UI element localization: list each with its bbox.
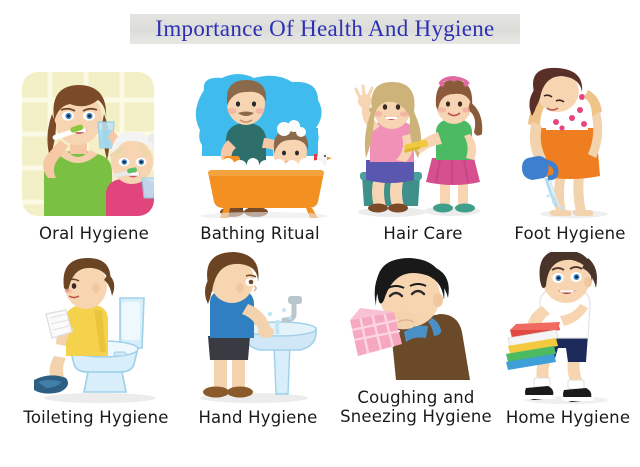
illustration-coughing-sneezing <box>336 252 496 384</box>
caption-coughing-sneezing-hygiene: Coughing and Sneezing Hygiene <box>336 388 496 426</box>
page-title: Importance Of Health And Hygiene <box>155 16 494 42</box>
caption-line-2: Sneezing Hygiene <box>336 407 496 426</box>
caption-oral-hygiene: Oral Hygiene <box>14 224 174 243</box>
caption-hand-hygiene: Hand Hygiene <box>178 408 338 427</box>
caption-line-1: Coughing and <box>336 388 496 407</box>
illustration-home-hygiene <box>496 252 640 404</box>
illustration-toileting-hygiene <box>16 252 176 404</box>
illustration-foot-hygiene <box>500 66 640 218</box>
card-bathing-ritual: Bathing Ritual <box>180 66 340 256</box>
illustration-hand-hygiene <box>178 252 338 404</box>
poster-canvas: Importance Of Health And Hygiene <box>0 0 640 467</box>
card-foot-hygiene: Foot Hygiene <box>500 66 640 256</box>
caption-hair-care: Hair Care <box>348 224 498 243</box>
card-home-hygiene: Home Hygiene <box>496 252 640 452</box>
card-hair-care: Hair Care <box>348 66 498 256</box>
caption-toileting-hygiene: Toileting Hygiene <box>16 408 176 427</box>
card-oral-hygiene: Oral Hygiene <box>14 66 174 256</box>
caption-bathing-ritual: Bathing Ritual <box>180 224 340 243</box>
illustration-oral-hygiene <box>14 66 174 218</box>
caption-foot-hygiene: Foot Hygiene <box>500 224 640 243</box>
caption-home-hygiene: Home Hygiene <box>496 408 640 427</box>
title-banner: Importance Of Health And Hygiene <box>130 14 520 44</box>
card-coughing-sneezing-hygiene: Coughing and Sneezing Hygiene <box>336 252 496 452</box>
card-toileting-hygiene: Toileting Hygiene <box>16 252 176 452</box>
illustration-hair-care <box>348 66 498 218</box>
card-hand-hygiene: Hand Hygiene <box>178 252 338 452</box>
illustration-bathing-ritual <box>180 66 340 218</box>
